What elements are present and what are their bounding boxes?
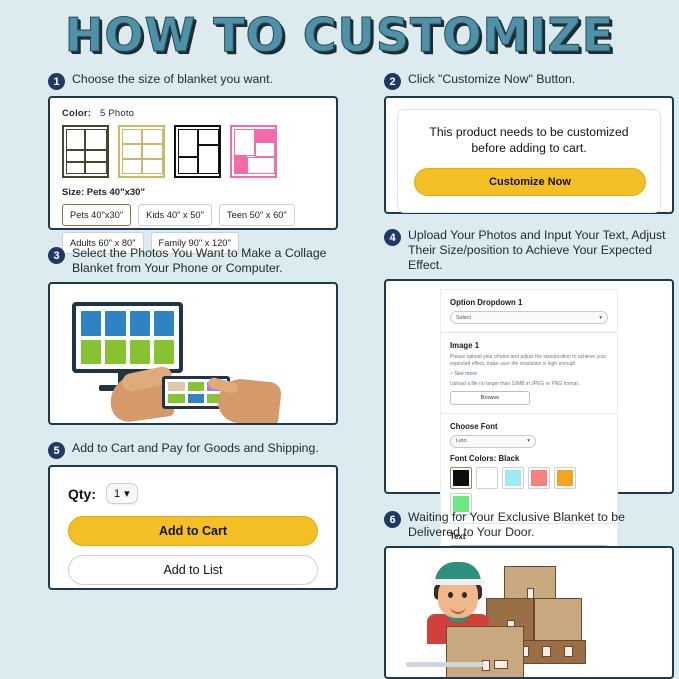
- step-4-panel: Option Dropdown 1 Select ▾ Image 1 Pleas…: [384, 279, 674, 494]
- step-6-heading: 6 Waiting for Your Exclusive Blanket to …: [384, 510, 674, 540]
- infographic-page: HOW TO CUSTOMIZE 1 Choose the size of bl…: [0, 0, 679, 679]
- chevron-down-icon: ▾: [124, 487, 130, 500]
- step-2-text: Click "Customize Now" Button.: [408, 72, 575, 87]
- add-to-cart-button[interactable]: Add to Cart: [68, 516, 318, 546]
- step-5-heading: 5 Add to Cart and Pay for Goods and Ship…: [48, 441, 338, 459]
- step-2-panel: This product needs to be customized befo…: [384, 96, 674, 214]
- option-dropdown-section: Option Dropdown 1 Select ▾: [441, 290, 617, 333]
- option-dropdown-select[interactable]: Select ▾: [450, 311, 608, 324]
- browse-button[interactable]: Browse: [450, 391, 530, 405]
- step-1-panel: Color: 5 Photo: [48, 96, 338, 230]
- qty-value: 1: [114, 488, 120, 500]
- step-2-badge: 2: [384, 73, 401, 90]
- option-dropdown-title: Option Dropdown 1: [450, 298, 608, 307]
- step-4-text: Upload Your Photos and Input Your Text, …: [408, 228, 674, 273]
- step-3-heading: 3 Select the Photos You Want to Make a C…: [48, 246, 338, 276]
- cap-brim: [431, 579, 485, 585]
- layout-thumb-2[interactable]: [118, 125, 165, 178]
- step-4-heading: 4 Upload Your Photos and Input Your Text…: [384, 228, 674, 273]
- color-value: 5 Photo: [100, 108, 134, 119]
- step-3-panel: [48, 282, 338, 425]
- step-6-badge: 6: [384, 511, 401, 528]
- font-value: Leto: [456, 438, 467, 444]
- size-row-1: Pets 40"x30" Kids 40" x 50" Teen 50" x 6…: [62, 204, 324, 226]
- font-colors-title: Font Colors: Black: [450, 454, 608, 463]
- layout-thumb-4[interactable]: [230, 125, 277, 178]
- add-to-list-button[interactable]: Add to List: [68, 555, 318, 585]
- qty-stepper[interactable]: 1 ▾: [106, 483, 138, 504]
- step-1-text: Choose the size of blanket you want.: [72, 72, 273, 87]
- color-label: Color:: [62, 108, 91, 119]
- page-title: HOW TO CUSTOMIZE: [0, 12, 679, 58]
- step-6-panel: [384, 546, 674, 679]
- font-color-swatches: [450, 467, 608, 489]
- step-4-badge: 4: [384, 229, 401, 246]
- monitor-frame: [72, 302, 183, 373]
- color-swatch-orange[interactable]: [554, 467, 576, 489]
- image-help-text: Please upload your photos and adjust the…: [450, 354, 608, 369]
- choose-font-title: Choose Font: [450, 422, 608, 431]
- qty-label: Qty:: [68, 486, 96, 502]
- color-swatch-salmon[interactable]: [528, 467, 550, 489]
- image-upload-section: Image 1 Please upload your photos and ad…: [441, 333, 617, 414]
- box-mid-right: [534, 598, 582, 644]
- step-3-text: Select the Photos You Want to Make a Col…: [72, 246, 338, 276]
- size-button-pets[interactable]: Pets 40"x30": [62, 204, 131, 226]
- box-tape-b4: [564, 646, 573, 657]
- step-3-badge: 3: [48, 247, 65, 264]
- layout-thumbnails: [62, 125, 324, 178]
- see-more-link[interactable]: ~ See more: [450, 371, 608, 377]
- eye-right: [462, 592, 467, 598]
- step-2-heading: 2 Click "Customize Now" Button.: [384, 72, 674, 90]
- chevron-down-icon: ▾: [599, 315, 602, 321]
- monitor-screen: [76, 306, 179, 369]
- step-1-heading: 1 Choose the size of blanket you want.: [48, 72, 338, 90]
- carried-box-label: [494, 660, 508, 669]
- upload-note: Upload a file no larger than 10MB in JPE…: [450, 381, 608, 388]
- customize-notice-text: This product needs to be customized befo…: [414, 124, 644, 157]
- customize-notice-card: This product needs to be customized befo…: [397, 109, 661, 213]
- size-button-kids[interactable]: Kids 40" x 50": [138, 204, 212, 226]
- size-label: Size: Pets 40"x30": [62, 187, 324, 198]
- layout-thumb-1[interactable]: [62, 125, 109, 178]
- font-select[interactable]: Leto ▾: [450, 435, 536, 448]
- color-swatch-cyan[interactable]: [502, 467, 524, 489]
- size-button-teen[interactable]: Teen 50" x 60": [219, 204, 295, 226]
- eye-left: [448, 592, 453, 598]
- right-column: 2 Click "Customize Now" Button. This pro…: [384, 72, 674, 679]
- chevron-down-icon: ▾: [527, 438, 530, 444]
- color-swatch-black[interactable]: [450, 467, 472, 489]
- step-1-badge: 1: [48, 73, 65, 90]
- step-5-badge: 5: [48, 442, 65, 459]
- image-section-title: Image 1: [450, 341, 608, 350]
- ground-shadow: [406, 662, 484, 667]
- step-6-text: Waiting for Your Exclusive Blanket to be…: [408, 510, 674, 540]
- option-dropdown-value: Select: [456, 315, 471, 321]
- color-label-row: Color: 5 Photo: [62, 108, 324, 119]
- layout-thumb-3[interactable]: [174, 125, 221, 178]
- qty-row: Qty: 1 ▾: [68, 483, 318, 504]
- box-tape-b3: [542, 646, 551, 657]
- customize-now-button[interactable]: Customize Now: [414, 168, 646, 196]
- color-swatch-white[interactable]: [476, 467, 498, 489]
- left-column: 1 Choose the size of blanket you want. C…: [48, 72, 338, 590]
- step-5-text: Add to Cart and Pay for Goods and Shippi…: [72, 441, 319, 456]
- font-section: Choose Font Leto ▾ Font Colors: Black: [441, 414, 617, 524]
- step-5-panel: Qty: 1 ▾ Add to Cart Add to List: [48, 465, 338, 590]
